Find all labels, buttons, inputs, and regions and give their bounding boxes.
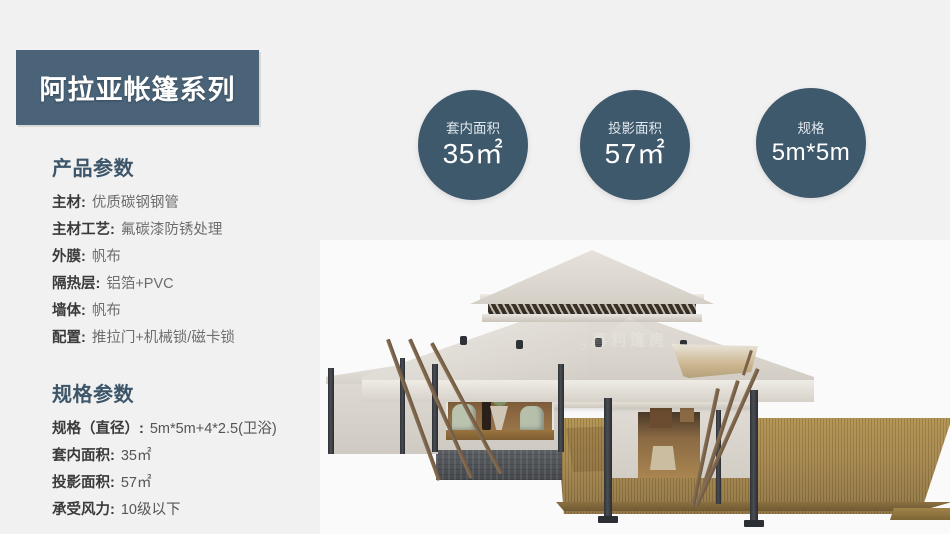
- row-value: 10级以下: [121, 497, 181, 524]
- row-value: 氟碳漆防锈处理: [121, 217, 223, 244]
- row-value: 帆布: [92, 298, 121, 325]
- list-item: 投影面积: 57㎡: [52, 470, 352, 497]
- doorway-lamp: [680, 408, 694, 422]
- brand-watermark: 喜利篷房 HAPPY TENT: [530, 288, 730, 350]
- product-params-list: 主材: 优质碳钢钢管 主材工艺: 氟碳漆防锈处理 外膜: 帆布 隔热层: 铝箔+…: [52, 190, 352, 352]
- support-post: [432, 364, 438, 452]
- row-label: 套内面积:: [52, 443, 115, 470]
- row-label: 投影面积:: [52, 470, 115, 497]
- badge-size: 规格 5m*5m: [756, 88, 866, 198]
- row-label: 隔热层:: [52, 271, 100, 298]
- product-params-heading: 产品参数: [52, 152, 352, 181]
- row-value: 帆布: [92, 244, 121, 271]
- list-item: 规格（直径）: 5m*5m+4*2.5(卫浴): [52, 416, 352, 443]
- list-item: 套内面积: 35㎡: [52, 443, 352, 470]
- row-label: 主材:: [52, 190, 86, 217]
- row-label: 外膜:: [52, 244, 86, 271]
- list-item: 主材: 优质碳钢钢管: [52, 190, 352, 217]
- spec-params-list: 规格（直径）: 5m*5m+4*2.5(卫浴) 套内面积: 35㎡ 投影面积: …: [52, 416, 352, 524]
- interior-side-table: [490, 406, 508, 432]
- row-value: 5m*5m+4*2.5(卫浴): [150, 416, 277, 443]
- page-root: 阿拉亚帐篷系列 产品参数 主材: 优质碳钢钢管 主材工艺: 氟碳漆防锈处理 外膜…: [0, 0, 950, 534]
- badge-value: 57㎡: [605, 139, 666, 168]
- badge-value: 5m*5m: [772, 140, 851, 165]
- roof-anchor-cap: [516, 340, 523, 349]
- row-label: 墙体:: [52, 298, 86, 325]
- veranda-column: [750, 390, 758, 524]
- badge-label: 投影面积: [608, 121, 662, 137]
- doorway-cabinet: [650, 408, 672, 428]
- row-label: 配置:: [52, 325, 86, 352]
- row-value: 铝箔+PVC: [106, 271, 173, 298]
- spec-params-heading: 规格参数: [52, 378, 352, 407]
- doorway-rug: [650, 446, 676, 470]
- page-title: 阿拉亚帐篷系列: [40, 68, 236, 107]
- list-item: 主材工艺: 氟碳漆防锈处理: [52, 217, 352, 244]
- deck-step: [890, 508, 950, 520]
- badge-label: 规格: [798, 121, 825, 137]
- row-value: 57㎡: [121, 470, 152, 497]
- spec-column: 产品参数 主材: 优质碳钢钢管 主材工艺: 氟碳漆防锈处理 外膜: 帆布 隔热层…: [52, 152, 352, 524]
- stone-plinth-texture: [436, 448, 562, 480]
- badge-projected-area: 投影面积 57㎡: [580, 90, 690, 200]
- roof-anchor-cap: [460, 336, 467, 345]
- row-value: 35㎡: [121, 443, 152, 470]
- badge-value: 35㎡: [443, 139, 504, 168]
- interior-armchair-right: [520, 406, 544, 432]
- row-value: 优质碳钢钢管: [92, 190, 179, 217]
- row-label: 主材工艺:: [52, 217, 115, 244]
- column-base: [744, 520, 764, 527]
- list-item: 隔热层: 铝箔+PVC: [52, 271, 352, 298]
- support-post: [328, 368, 334, 454]
- row-label: 承受风力:: [52, 497, 115, 524]
- title-banner: 阿拉亚帐篷系列: [16, 50, 259, 125]
- watermark-subtext: HAPPY TENT: [580, 341, 680, 350]
- list-item: 承受风力: 10级以下: [52, 497, 352, 524]
- veranda-column: [604, 398, 612, 520]
- tent-illustration: 喜利篷房 HAPPY TENT: [320, 240, 950, 534]
- interior-floor-lamp: [482, 400, 491, 430]
- row-label: 规格（直径）:: [52, 416, 144, 443]
- list-item: 配置: 推拉门+机械锁/磁卡锁: [52, 325, 352, 352]
- support-post: [558, 364, 564, 452]
- badge-label: 套内面积: [446, 121, 500, 137]
- badge-interior-area: 套内面积 35㎡: [418, 90, 528, 200]
- column-base: [598, 516, 618, 523]
- row-value: 推拉门+机械锁/磁卡锁: [92, 325, 235, 352]
- list-item: 外膜: 帆布: [52, 244, 352, 271]
- list-item: 墙体: 帆布: [52, 298, 352, 325]
- interior-floor: [446, 430, 554, 440]
